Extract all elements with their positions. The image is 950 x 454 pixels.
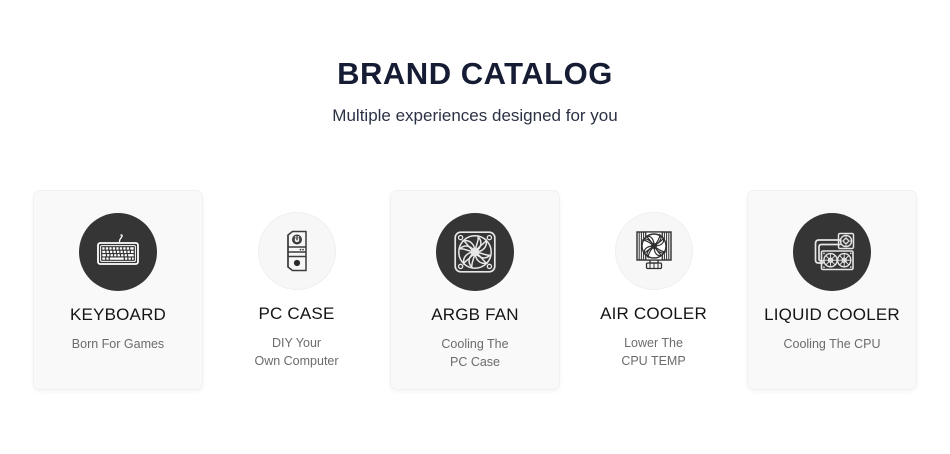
card-title: KEYBOARD	[70, 305, 166, 325]
keyboard-icon	[94, 232, 142, 272]
keyboard-icon-badge	[79, 213, 157, 291]
catalog-header: BRAND CATALOG Multiple experiences desig…	[0, 56, 950, 126]
page-subtitle: Multiple experiences designed for you	[0, 106, 950, 126]
card-title: LIQUID COOLER	[764, 305, 900, 325]
air-cooler-icon	[630, 228, 678, 274]
category-card-argb-fan[interactable]: ARGB FAN Cooling The PC Case	[390, 190, 560, 390]
card-description: Born For Games	[72, 336, 164, 354]
brand-catalog-page: BRAND CATALOG Multiple experiences desig…	[0, 0, 950, 454]
liquid-cooler-icon	[807, 229, 857, 275]
air-cooler-icon-badge	[615, 212, 693, 290]
category-card-keyboard[interactable]: KEYBOARD Born For Games	[33, 190, 203, 390]
case-fan-icon	[452, 229, 498, 275]
page-title: BRAND CATALOG	[0, 56, 950, 92]
case-fan-icon-badge	[436, 213, 514, 291]
category-card-liquid-cooler[interactable]: LIQUID COOLER Cooling The CPU	[747, 190, 917, 390]
card-title: PC CASE	[258, 304, 334, 324]
card-description: Lower The CPU TEMP	[621, 335, 685, 371]
category-card-pc-case[interactable]: PC CASE DIY Your Own Computer	[212, 190, 382, 390]
card-description: Cooling The PC Case	[441, 336, 508, 372]
card-title: ARGB FAN	[431, 305, 519, 325]
card-title: AIR COOLER	[600, 304, 707, 324]
card-description: Cooling The CPU	[783, 336, 880, 354]
category-card-list: KEYBOARD Born For Games	[33, 190, 917, 390]
category-card-air-cooler[interactable]: AIR COOLER Lower The CPU TEMP	[569, 190, 739, 390]
liquid-cooler-icon-badge	[793, 213, 871, 291]
card-description: DIY Your Own Computer	[254, 335, 338, 371]
pc-case-icon-badge	[258, 212, 336, 290]
pc-case-icon	[277, 228, 317, 274]
